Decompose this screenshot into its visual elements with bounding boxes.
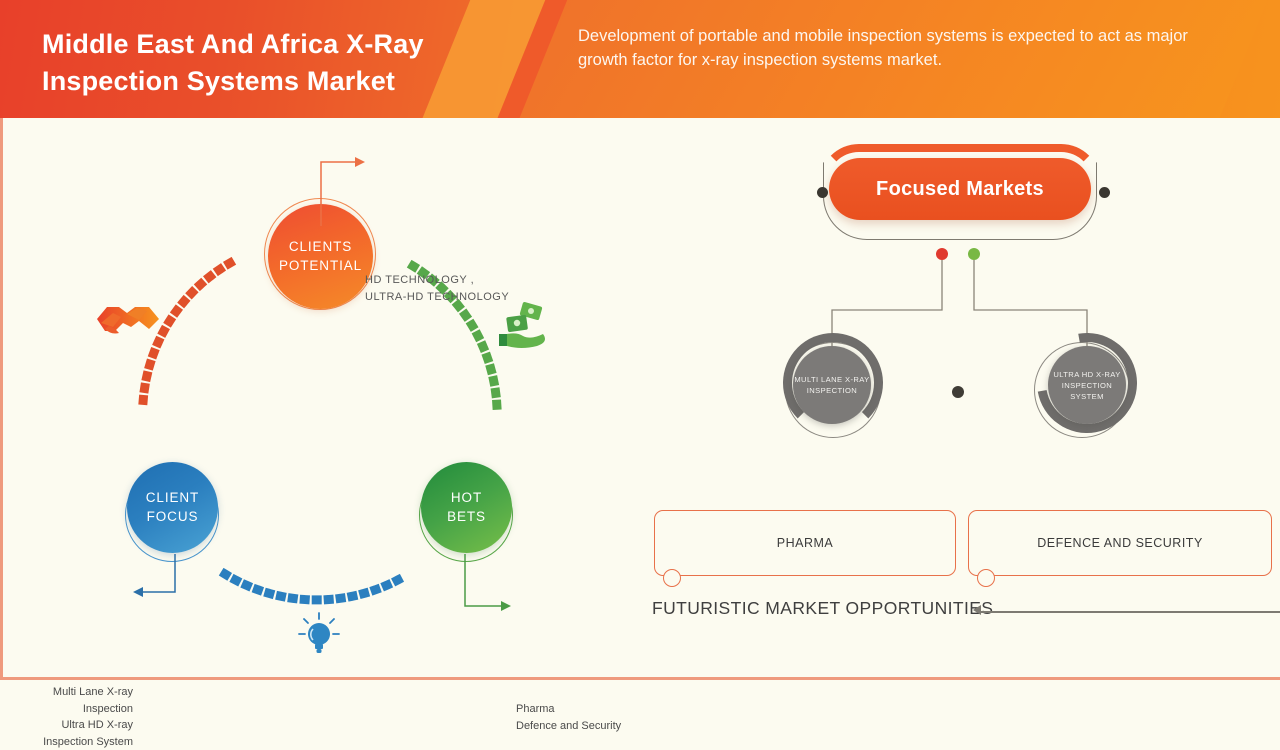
callout-hot-bets: Pharma Defence and Security [516, 701, 621, 734]
ultra-hd-label-line2: INSPECTION SYSTEM [1048, 380, 1126, 402]
header-subtitle: Development of portable and mobile inspe… [578, 24, 1218, 73]
ultra-hd-label-line1: ULTRA HD X-RAY [1053, 369, 1120, 380]
clients-callout-connector [303, 148, 503, 268]
multi-lane-label-line1: MULTI LANE X-RAY [794, 374, 869, 385]
callout-clients-line1: HD TECHNOLOGY , [365, 272, 509, 289]
node-client-focus-line1: CLIENT [146, 489, 199, 507]
callout-focus-line2: Inspection [13, 701, 133, 718]
callout-focus-line4: Inspection System [13, 734, 133, 750]
futuristic-section-title: FUTURISTIC MARKET OPPORTUNITIES [652, 598, 993, 619]
futuristic-pointer-arrow-icon [973, 605, 981, 615]
pill-left-dot [817, 187, 828, 198]
opportunity-box-pharma-label: PHARMA [777, 536, 833, 550]
green-status-dot [968, 248, 980, 260]
defence-box-knob [977, 569, 995, 587]
futuristic-pointer-line [981, 611, 1280, 613]
money-in-hand-icon [495, 300, 551, 355]
node-client-focus-line2: FOCUS [147, 508, 199, 526]
hot-bets-callout-connector [455, 550, 575, 670]
focused-markets-diagram: Focused Markets MULTI LANE X-RAY INSPECT… [643, 118, 1280, 680]
callout-focus-line1: Multi Lane X-ray [13, 684, 133, 701]
page-title: Middle East And Africa X-Ray Inspection … [42, 26, 512, 101]
pill-right-dot [1099, 187, 1110, 198]
callout-client-focus: Multi Lane X-ray Inspection Ultra HD X-r… [13, 684, 133, 750]
node-hot-bets[interactable]: HOT BETS [421, 462, 512, 553]
header-banner: Middle East And Africa X-Ray Inspection … [0, 0, 1280, 118]
center-divider-dot [952, 386, 964, 398]
callout-hot-line1: Pharma [516, 701, 621, 718]
node-ultra-hd-xray-inspection-system[interactable]: ULTRA HD X-RAY INSPECTION SYSTEM [1048, 346, 1126, 424]
callout-focus-line3: Ultra HD X-ray [13, 717, 133, 734]
opportunity-box-pharma[interactable]: PHARMA [654, 510, 956, 576]
client-focus-callout-connector [113, 550, 253, 670]
callout-clients-potential: HD TECHNOLOGY , ULTRA-HD TECHNOLOGY [365, 272, 509, 305]
node-multi-lane-xray-inspection[interactable]: MULTI LANE X-RAY INSPECTION [793, 346, 871, 424]
opportunity-box-defence[interactable]: DEFENCE AND SECURITY [968, 510, 1272, 576]
callout-clients-line2: ULTRA-HD TECHNOLOGY [365, 289, 509, 306]
opportunity-box-defence-label: DEFENCE AND SECURITY [1037, 536, 1203, 550]
left-cycle-diagram: CLIENTS POTENTIAL HD TECHNOLOGY , ULTRA-… [3, 118, 643, 680]
callout-hot-line2: Defence and Security [516, 718, 621, 735]
infographic-canvas: Middle East And Africa X-Ray Inspection … [0, 0, 1280, 680]
pharma-box-knob [663, 569, 681, 587]
focused-markets-pill[interactable]: Focused Markets [829, 158, 1091, 220]
node-hot-bets-line1: HOT [451, 489, 482, 507]
multi-lane-label-line2: INSPECTION [807, 385, 857, 396]
handshake-icon [93, 293, 163, 350]
red-status-dot [936, 248, 948, 260]
node-client-focus[interactable]: CLIENT FOCUS [127, 462, 218, 553]
node-hot-bets-line2: BETS [447, 508, 486, 526]
lightbulb-icon [295, 610, 343, 663]
